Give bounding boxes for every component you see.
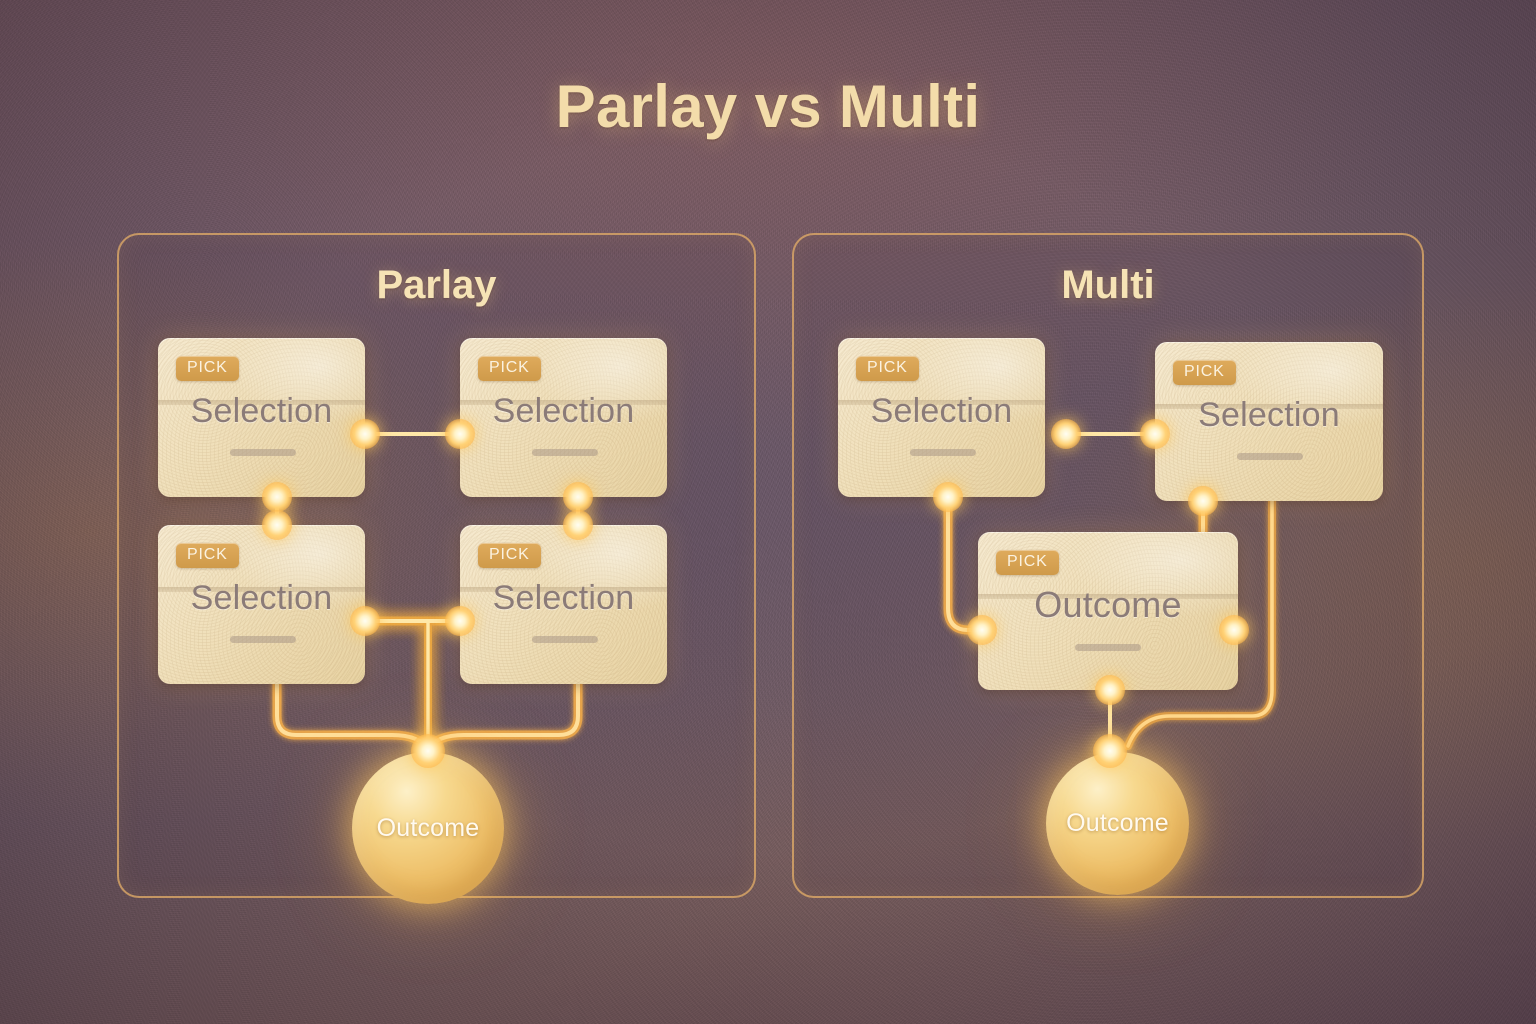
card-underline [230,636,296,643]
connector-node [262,510,292,540]
card-parlay-selection-2[interactable]: PICK Selection [460,338,667,497]
connector-node [967,615,997,645]
connector-node [563,482,593,512]
connector-node [411,734,445,768]
card-parlay-selection-4[interactable]: PICK Selection [460,525,667,684]
pick-badge: PICK [1173,360,1236,385]
card-label: Selection [460,579,667,618]
outcome-node-multi[interactable]: Outcome [1046,752,1189,895]
card-underline [1075,644,1141,651]
card-multi-selection-2[interactable]: PICK Selection [1155,342,1383,501]
connector-node [1140,419,1170,449]
connector-node [350,419,380,449]
card-underline [910,449,976,456]
pick-badge: PICK [996,550,1059,575]
card-underline [532,449,598,456]
outcome-node-parlay[interactable]: Outcome [352,752,504,904]
card-label: Selection [460,392,667,431]
pick-badge: PICK [176,356,239,381]
card-multi-outcome[interactable]: PICK Outcome [978,532,1238,690]
connector-node [445,606,475,636]
card-label: Outcome [978,584,1238,626]
connector-node [350,606,380,636]
connector-node [1095,675,1125,705]
outcome-label: Outcome [1066,809,1169,838]
page-title: Parlay vs Multi [0,72,1536,141]
card-label: Selection [1155,396,1383,435]
card-parlay-selection-1[interactable]: PICK Selection [158,338,365,497]
pick-badge: PICK [478,543,541,568]
pick-badge: PICK [478,356,541,381]
connector-node [262,482,292,512]
connector-node [933,482,963,512]
connector-node [563,510,593,540]
connector-node [1051,419,1081,449]
card-multi-selection-1[interactable]: PICK Selection [838,338,1045,497]
card-label: Selection [158,392,365,431]
card-underline [230,449,296,456]
connector-node [1219,615,1249,645]
card-underline [1237,453,1303,460]
card-parlay-selection-3[interactable]: PICK Selection [158,525,365,684]
pick-badge: PICK [176,543,239,568]
card-label: Selection [838,392,1045,431]
card-label: Selection [158,579,365,618]
connector-node [445,419,475,449]
panel-title-parlay: Parlay [119,263,754,308]
connector-node [1093,734,1127,768]
connector-node [1188,486,1218,516]
panel-title-multi: Multi [794,263,1422,308]
card-underline [532,636,598,643]
pick-badge: PICK [856,356,919,381]
outcome-label: Outcome [377,814,480,843]
